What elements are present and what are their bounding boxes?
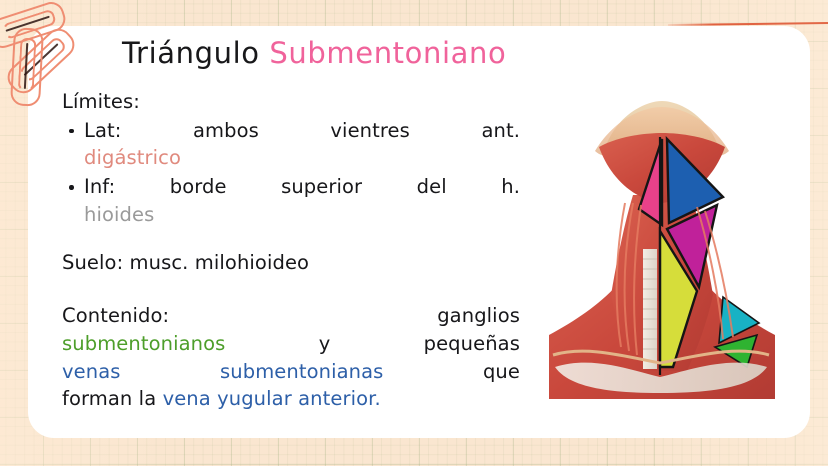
anatomy-svg [547,99,777,401]
term-vena-yugular-anterior: vena yugular anterior. [163,387,381,410]
content-line-1: Contenido: ganglios [62,302,520,330]
word-que: que [483,360,520,383]
title-highlight: Submentoniano [269,36,506,70]
body-text-column: Límites: Lat: ambos vientres ant. digást… [62,88,520,413]
content-line-4: forman la vena yugular anterior. [62,385,520,413]
slide-canvas: Triángulo Submentoniano Límites: Lat: am… [0,0,828,466]
term-submentonianos: submentonianos [62,332,225,355]
list-item: Inf: borde superior del h. hioides [62,173,520,228]
neck-anatomy-illustration [547,99,777,401]
limit-lateral-line2: digástrico [84,144,520,172]
term-submentonianas: submentonianas [220,360,383,383]
limit-inferior-line2: hioides [84,201,520,229]
floor-text: Suelo: musc. milohioideo [62,249,520,277]
title-primary: Triángulo [122,36,260,70]
content-paragraph: Contenido: ganglios submentonianos y peq… [62,302,520,413]
word-y: y [319,332,331,355]
page-title: Triángulo Submentoniano [122,37,506,70]
content-line-3: venas submentonianas que [62,358,520,386]
word-pequenas: pequeñas [424,332,520,355]
limit-inferior-line1: Inf: borde superior del h. [84,173,520,201]
paperclip-icon-3 [10,27,44,106]
limits-list: Lat: ambos vientres ant. digástrico Inf:… [62,117,520,229]
list-item: Lat: ambos vientres ant. digástrico [62,117,520,172]
term-venas: venas [62,360,121,383]
limits-label: Límites: [62,88,520,116]
limit-lateral-line1: Lat: ambos vientres ant. [84,117,520,145]
content-line-2: submentonianos y pequeñas [62,330,520,358]
word-forman-la: forman la [62,387,156,410]
